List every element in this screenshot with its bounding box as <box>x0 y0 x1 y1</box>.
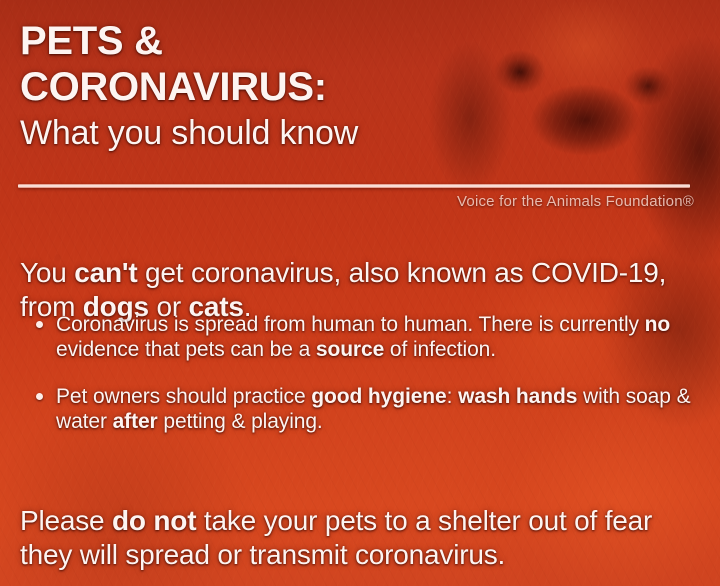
headline-line-1: PETS & <box>20 18 660 64</box>
list-item: Pet owners should practice good hygiene:… <box>20 384 696 434</box>
closing-paragraph: Please do not take your pets to a shelte… <box>20 504 696 572</box>
attribution-credit: Voice for the Animals Foundation® <box>457 192 694 212</box>
bullet-list: Coronavirus is spread from human to huma… <box>20 312 696 434</box>
poster-content: PETS & CORONAVIRUS: What you should know… <box>0 0 720 586</box>
headline-line-2: CORONAVIRUS: <box>20 64 660 110</box>
divider-rule <box>18 184 690 188</box>
list-item-text: Coronavirus is spread from human to huma… <box>56 313 670 361</box>
list-item: Coronavirus is spread from human to huma… <box>20 312 696 362</box>
headline-block: PETS & CORONAVIRUS: What you should know <box>20 18 660 154</box>
list-item-text: Pet owners should practice good hygiene:… <box>56 385 690 433</box>
infographic-poster: PETS & CORONAVIRUS: What you should know… <box>0 0 720 586</box>
bullet-dot-icon <box>36 321 43 328</box>
subheadline: What you should know <box>20 112 660 154</box>
bullet-dot-icon <box>36 393 43 400</box>
